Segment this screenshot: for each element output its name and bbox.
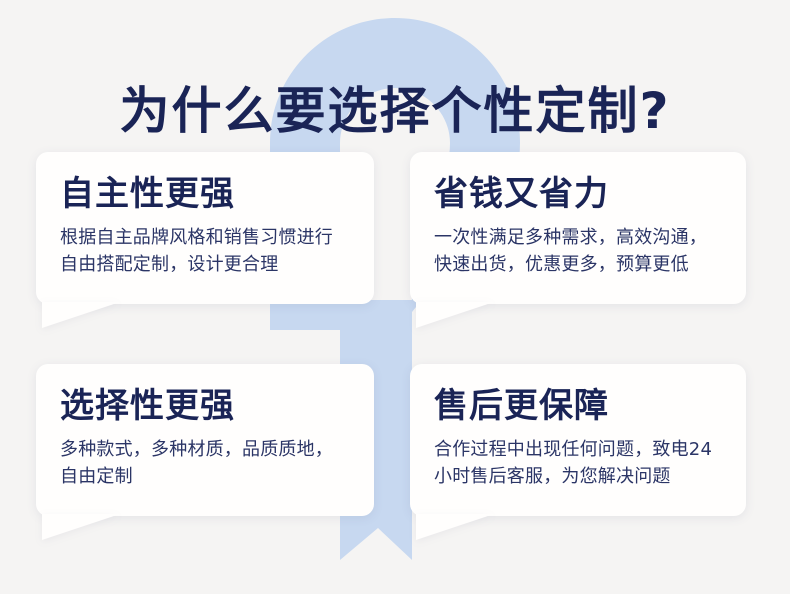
card-title: 售后更保障 (434, 386, 722, 426)
feature-card-selection: 选择性更强 多种款式，多种材质，品质质地，自由定制 (36, 364, 374, 516)
card-description: 合作过程中出现任何问题，致电24小时售后客服，为您解决问题 (434, 436, 722, 490)
promo-poster: 为什么要选择个性定制? 自主性更强 根据自主品牌风格和销售习惯进行自由搭配定制，… (0, 0, 790, 594)
feature-card-autonomy: 自主性更强 根据自主品牌风格和销售习惯进行自由搭配定制，设计更合理 (36, 152, 374, 304)
speech-bubble-tail (416, 514, 494, 540)
card-content: 自主性更强 根据自主品牌风格和销售习惯进行自由搭配定制，设计更合理 (36, 152, 374, 296)
card-content: 省钱又省力 一次性满足多种需求，高效沟通，快速出货，优惠更多，预算更低 (410, 152, 746, 296)
card-description: 一次性满足多种需求，高效沟通，快速出货，优惠更多，预算更低 (434, 224, 722, 278)
feature-card-savings: 省钱又省力 一次性满足多种需求，高效沟通，快速出货，优惠更多，预算更低 (410, 152, 746, 304)
card-content: 选择性更强 多种款式，多种材质，品质质地，自由定制 (36, 364, 374, 508)
card-content: 售后更保障 合作过程中出现任何问题，致电24小时售后客服，为您解决问题 (410, 364, 746, 508)
card-title: 自主性更强 (60, 174, 350, 214)
card-description: 根据自主品牌风格和销售习惯进行自由搭配定制，设计更合理 (60, 224, 350, 278)
card-title: 省钱又省力 (434, 174, 722, 214)
page-title: 为什么要选择个性定制? (0, 82, 790, 140)
card-description: 多种款式，多种材质，品质质地，自由定制 (60, 436, 350, 490)
speech-bubble-tail (42, 302, 120, 328)
speech-bubble-tail (42, 514, 120, 540)
feature-card-aftersales: 售后更保障 合作过程中出现任何问题，致电24小时售后客服，为您解决问题 (410, 364, 746, 516)
speech-bubble-tail (416, 302, 494, 328)
card-title: 选择性更强 (60, 386, 350, 426)
